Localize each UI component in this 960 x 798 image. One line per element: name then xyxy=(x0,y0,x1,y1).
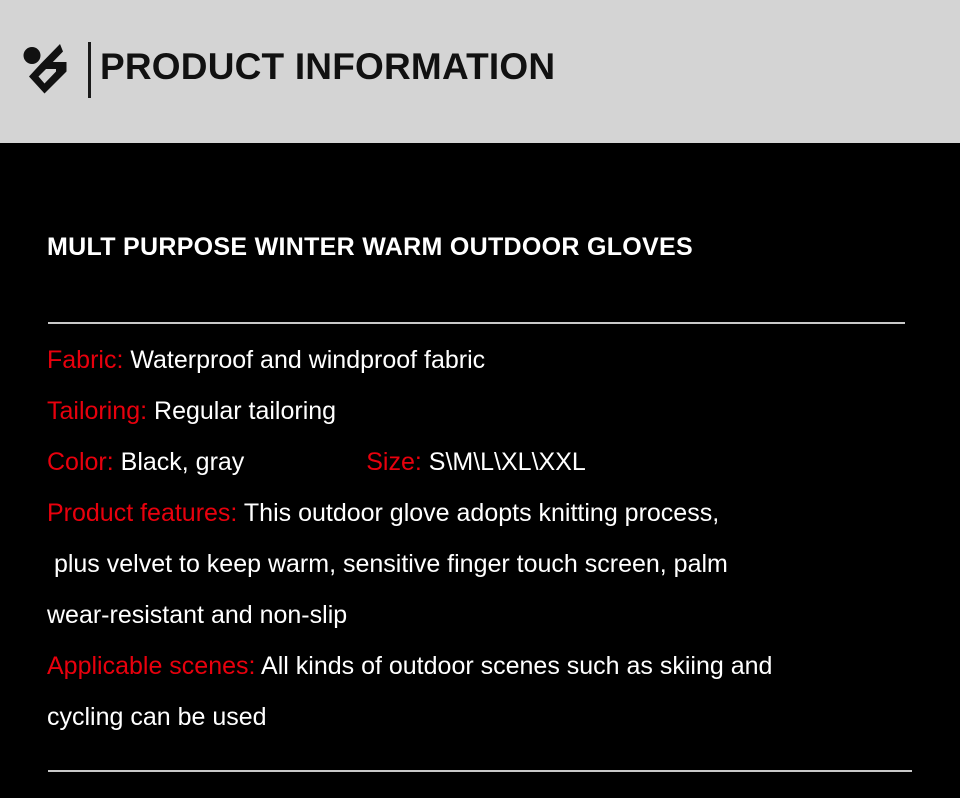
spec-features-continuation-1: plus velvet to keep warm, sensitive fing… xyxy=(47,539,937,590)
spec-features-continuation-2: wear-resistant and non-slip xyxy=(47,590,937,641)
spec-row-applicable-scenes: Applicable scenes: All kinds of outdoor … xyxy=(47,641,937,692)
product-information-panel: MULT PURPOSE WINTER WARM OUTDOOR GLOVES … xyxy=(0,143,960,798)
spec-label-fabric: Fabric: xyxy=(47,346,123,374)
page-header: PRODUCT INFORMATION xyxy=(0,0,960,143)
spec-value-fabric: Waterproof and windproof fabric xyxy=(130,346,485,374)
spec-row-fabric: Fabric: Waterproof and windproof fabric xyxy=(47,335,937,386)
spec-value-size: S\M\L\XL\XXL xyxy=(429,448,586,476)
spec-label-color: Color: xyxy=(47,448,114,476)
divider-bottom xyxy=(48,770,912,772)
brand-logo-icon xyxy=(16,38,80,102)
spec-value-color: Black, gray xyxy=(121,448,245,476)
divider-top xyxy=(48,322,905,324)
spec-scenes-continuation: cycling can be used xyxy=(47,692,937,743)
spec-value-applicable-scenes: All kinds of outdoor scenes such as skii… xyxy=(261,652,772,680)
spec-label-size: Size: xyxy=(366,448,422,476)
spec-row-tailoring: Tailoring: Regular tailoring xyxy=(47,386,937,437)
header-accent-bar xyxy=(88,42,91,98)
spec-label-tailoring: Tailoring: xyxy=(47,397,147,425)
product-name-heading: MULT PURPOSE WINTER WARM OUTDOOR GLOVES xyxy=(47,233,693,262)
spec-row-color-size: Color: Black, gray Size: S\M\L\XL\XXL xyxy=(47,437,937,488)
spec-label-product-features: Product features: xyxy=(47,499,237,527)
spec-value-product-features: This outdoor glove adopts knitting proce… xyxy=(244,499,719,527)
spec-value-tailoring: Regular tailoring xyxy=(154,397,336,425)
specification-list: Fabric: Waterproof and windproof fabric … xyxy=(47,335,937,743)
page-title: PRODUCT INFORMATION xyxy=(100,45,555,89)
spec-row-product-features: Product features: This outdoor glove ado… xyxy=(47,488,937,539)
spec-label-applicable-scenes: Applicable scenes: xyxy=(47,652,255,680)
